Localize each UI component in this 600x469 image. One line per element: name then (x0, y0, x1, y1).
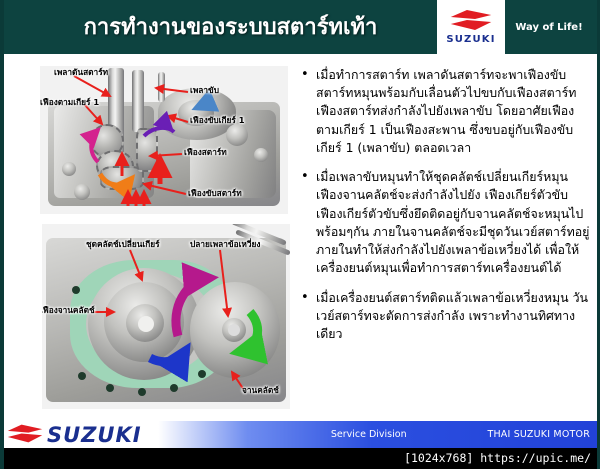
callout-line-push-shaft (74, 76, 110, 96)
bullet-list: เมื่อทำการสตาร์ท เพลาดันสตาร์ทจะพาเฟืองข… (298, 66, 593, 343)
page-title: การทำงานของระบบสตาร์ทเท้า (4, 9, 437, 46)
diagram-column: เพลาดันสตาร์ท เพลาขับ เฟืองตามเกียร์ 1 เ… (4, 54, 294, 429)
label-shift-clutch-assembly: ชุดคลัตช์เปลี่ยนเกียร์ (86, 240, 160, 248)
motion-arrow-orange (100, 174, 132, 185)
diagram-bottom-image: ชุดคลัตช์เปลี่ยนเกียร์ ปลายเพลาข้อเหวี่ย… (42, 224, 290, 409)
callout-line-crank-end (220, 250, 228, 316)
label-start-gear: เฟืองสตาร์ท (184, 148, 227, 156)
slide-content: เพลาดันสตาร์ท เพลาขับ เฟืองตามเกียร์ 1 เ… (4, 54, 597, 429)
list-item: เมื่อทำการสตาร์ท เพลาดันสตาร์ทจะพาเฟืองข… (298, 66, 593, 157)
label-crankshaft-end: ปลายเพลาข้อเหวี่ยง (190, 240, 260, 248)
diagram-bottom-annotations (42, 224, 290, 409)
callout-line-shift-clutch (130, 250, 142, 280)
suzuki-s-svg-icon (6, 424, 45, 443)
label-driven-gear-1: เฟืองตามเกียร์ 1 (40, 98, 99, 106)
suzuki-wordmark: SUZUKI (446, 34, 495, 45)
text-column: เมื่อทำการสตาร์ท เพลาดันสตาร์ทจะพาเฟืองข… (296, 54, 600, 429)
callout-line-drive-shaft (156, 88, 188, 92)
label-drive-shaft: เพลาขับ (190, 86, 219, 94)
motion-arrow-blue-ccw (150, 350, 186, 362)
callout-line-driven-gear1 (84, 104, 102, 124)
label-clutch-plate-gear: เฟืองจานคลัตช์ (42, 306, 95, 314)
slide-header: การทำงานของระบบสตาร์ทเท้า SUZUKI Way of … (4, 0, 597, 54)
callout-line-start-drive-gear (144, 184, 186, 194)
motion-arrow-blue (196, 102, 210, 108)
motion-arrow-pink (91, 130, 98, 162)
watermark: [1024x768] https://upic.me/ (4, 448, 597, 469)
motion-arrow-purple (144, 128, 174, 136)
callout-line-drive-gear1 (168, 116, 188, 122)
footer-wordmark: SUZUKI (47, 423, 142, 447)
suzuki-s-svg-icon (448, 10, 494, 30)
suzuki-s-mark-icon (448, 10, 494, 31)
suzuki-s-mark-icon (6, 424, 45, 446)
footer-right-text: THAI SUZUKI MOTOR (487, 429, 597, 440)
motion-arrow-green-cw (238, 312, 258, 352)
suzuki-logo: SUZUKI (437, 0, 505, 54)
label-drive-gear-1: เฟืองขับเกียร์ 1 (190, 116, 245, 124)
motion-arrow-magenta (176, 278, 210, 336)
label-start-drive-gear: เฟืองขับสตาร์ท (188, 189, 242, 197)
header-tagline: Way of Life! (505, 22, 597, 33)
list-item: เมื่อเพลาขับหมุนทำให้ชุดคลัตช์เปลี่ยนเกี… (298, 168, 593, 277)
diagram-top-annotations (40, 66, 288, 214)
footer-center-text: Service Division (210, 429, 487, 440)
slide-footer: SUZUKI Service Division THAI SUZUKI MOTO… (4, 421, 597, 448)
slide-root: การทำงานของระบบสตาร์ทเท้า SUZUKI Way of … (0, 0, 600, 469)
label-push-start-shaft: เพลาดันสตาร์ท (54, 68, 108, 76)
label-clutch-plate: จานคลัตช์ (242, 386, 279, 394)
footer-suzuki-logo: SUZUKI (4, 423, 210, 447)
diagram-top-image: เพลาดันสตาร์ท เพลาขับ เฟืองตามเกียร์ 1 เ… (40, 66, 288, 214)
list-item: เมื่อเครื่องยนต์สตาร์ทติดแล้วเพลาข้อเหวี… (298, 289, 593, 344)
callout-line-start-gear (150, 154, 182, 156)
